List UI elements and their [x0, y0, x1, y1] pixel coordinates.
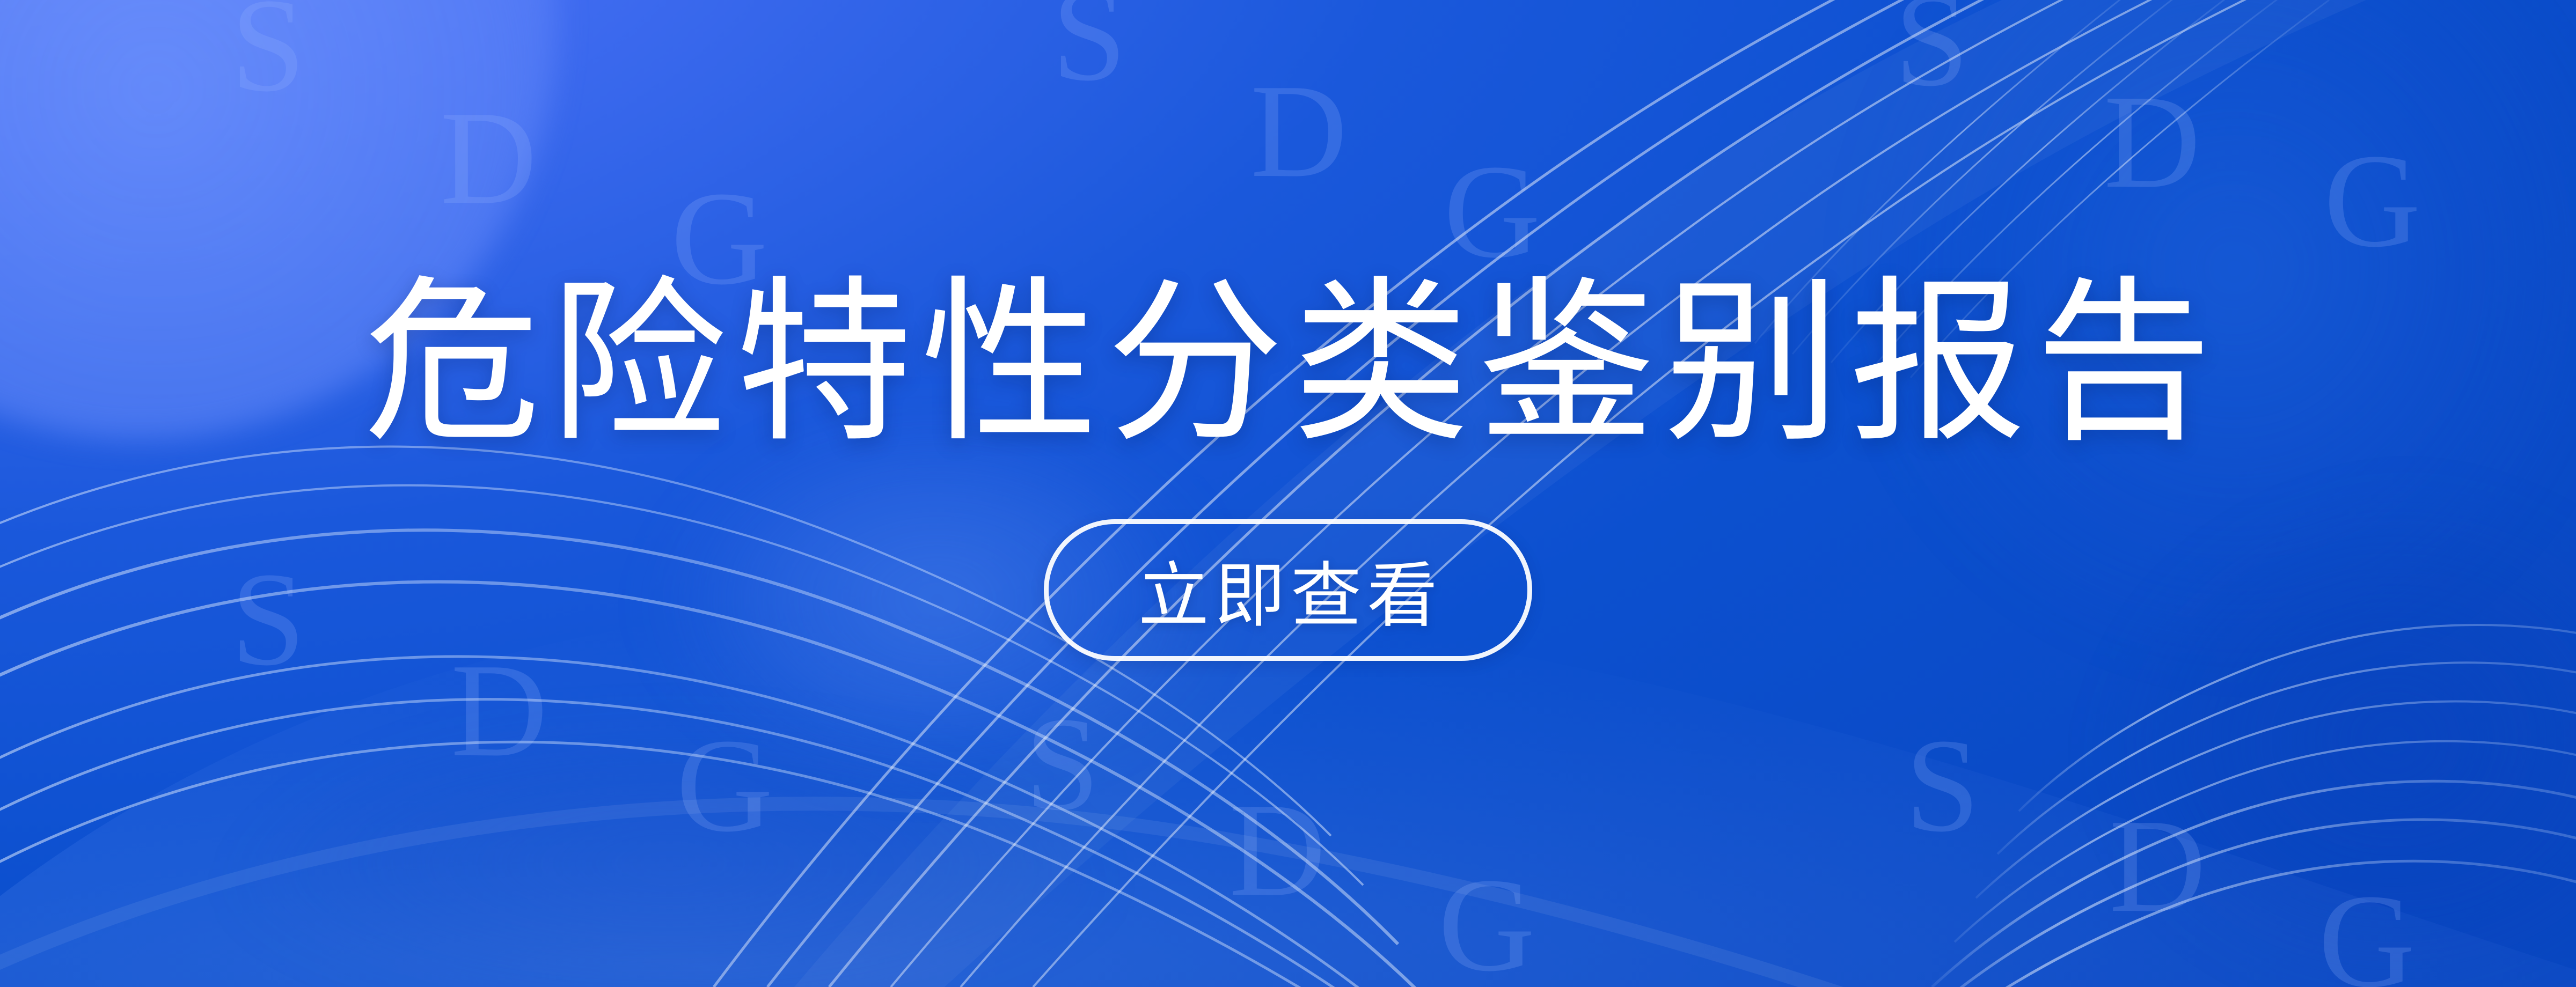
page-title: 危险特性分类鉴别报告 [355, 264, 2221, 462]
view-now-button[interactable]: 立即查看 [1044, 519, 1532, 661]
promo-banner: SDGSDGSDGSDGSDGSDG [0, 0, 2576, 987]
view-now-button-label: 立即查看 [1133, 539, 1443, 641]
banner-content: 危险特性分类鉴别报告 立即查看 [0, 0, 2576, 987]
